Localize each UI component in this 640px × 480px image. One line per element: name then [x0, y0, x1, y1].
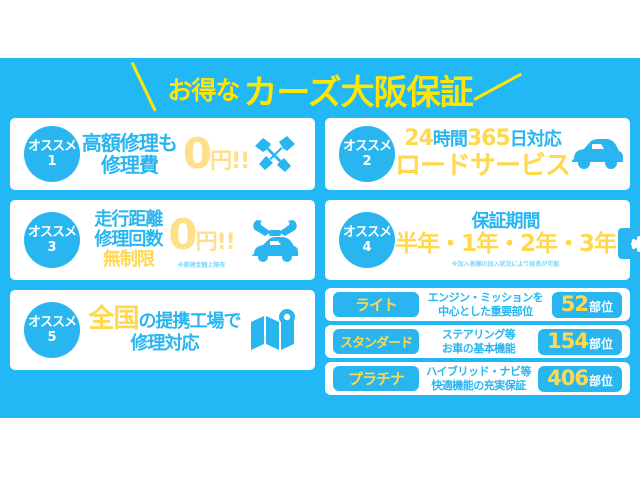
card-3-line-3: 無制限 — [103, 250, 154, 270]
plan-desc-line-2: お車の基本機能 — [419, 342, 538, 356]
promo-banner: ＼ お得な カーズ大阪保証 ／ オススメ 1 高額修理も 修理費 0 円!! — [0, 0, 640, 480]
badge-number: 2 — [362, 155, 371, 168]
banner-header: ＼ お得な カーズ大阪保証 ／ — [0, 62, 640, 116]
card-1-amount: 0 — [183, 130, 210, 177]
card-4-periods: 半年・1年・2年・3年 — [395, 232, 616, 258]
card-3-line-1: 走行距離 — [94, 210, 162, 230]
feature-card-3: オススメ 3 走行距離 修理回数 無制限 0 円!! ※修理金額上限有 — [10, 200, 315, 280]
plan-desc-line-1: エンジン・ミッションを — [419, 291, 552, 305]
plan-desc-line-1: ステアリング等 — [419, 328, 538, 342]
badge-label: オススメ — [343, 226, 391, 239]
car-icon — [570, 137, 624, 171]
plan-description-standard: ステアリング等 お車の基本機能 — [419, 328, 538, 356]
badge-number: 5 — [47, 331, 56, 344]
card-5-line-1: の提携工場で — [139, 312, 241, 332]
card-2-hours-number: 24 — [404, 127, 433, 152]
plan-name-label: プラチナ — [348, 368, 404, 389]
recommend-badge-4: オススメ 4 — [339, 212, 395, 268]
plan-row-standard[interactable]: スタンダード ステアリング等 お車の基本機能 154 部位 — [325, 325, 630, 358]
slash-right-decoration: ／ — [471, 63, 522, 115]
plan-count-unit: 部位 — [589, 298, 613, 315]
plan-count-pill-platinum: 406 部位 — [538, 366, 622, 392]
card-1-line-1: 高額修理も — [82, 132, 177, 154]
badge-number: 1 — [47, 155, 56, 168]
plan-count-value: 154 — [547, 329, 588, 353]
card-2-service-label: ロードサービス — [395, 152, 570, 181]
card-4-title: 保証期間 — [472, 212, 540, 232]
card-3-note: ※修理金額上限有 — [178, 260, 226, 269]
toolbox-icon — [616, 219, 640, 261]
slash-left-decoration: ＼ — [118, 63, 169, 115]
plan-description-light: エンジン・ミッションを 中心とした重要部位 — [419, 291, 552, 319]
badge-label: オススメ — [28, 226, 76, 239]
card-1-line-2: 修理費 — [101, 154, 158, 176]
feature-card-1: オススメ 1 高額修理も 修理費 0 円!! — [10, 118, 315, 190]
header-text-small: お得な — [167, 71, 239, 107]
plan-desc-line-2: 中心とした重要部位 — [419, 305, 552, 319]
plan-row-platinum[interactable]: プラチナ ハイブリッド・ナビ等 快適機能の充実保証 406 部位 — [325, 362, 630, 395]
feature-card-5: オススメ 5 全国 の提携工場で 修理対応 — [10, 290, 315, 370]
plan-description-platinum: ハイブリッド・ナビ等 快適機能の充実保証 — [419, 365, 538, 393]
card-4-note: ※加入者様の加入状況により延長が可能 — [452, 259, 560, 268]
card-5-line-2: 修理対応 — [131, 334, 199, 354]
card-5-nationwide: 全国 — [88, 305, 138, 334]
plan-count-unit: 部位 — [589, 335, 613, 352]
feature-card-2: オススメ 2 24 時間 365 日対応 ロードサービス — [325, 118, 630, 190]
map-pin-icon — [249, 308, 299, 352]
card-2-days-unit: 日対応 — [510, 130, 561, 150]
wrench-car-icon — [249, 216, 299, 264]
plan-count-pill-standard: 154 部位 — [538, 329, 622, 355]
card-1-amount-unit: 円!! — [210, 150, 249, 175]
plan-desc-line-1: ハイブリッド・ナビ等 — [419, 365, 538, 379]
badge-label: オススメ — [28, 140, 76, 153]
plan-name-pill-light: ライト — [333, 292, 419, 317]
plan-desc-line-2: 快適機能の充実保証 — [419, 379, 538, 393]
badge-number: 4 — [362, 241, 371, 254]
plan-name-pill-platinum: プラチナ — [333, 366, 419, 391]
card-3-amount-unit: 円!! — [196, 231, 235, 256]
feature-card-4: オススメ 4 保証期間 半年・1年・2年・3年 ※加入者様の加入状況により延長が… — [325, 200, 630, 280]
plan-row-light[interactable]: ライト エンジン・ミッションを 中心とした重要部位 52 部位 — [325, 288, 630, 321]
plan-count-value: 52 — [561, 292, 588, 316]
recommend-badge-5: オススメ 5 — [24, 302, 80, 358]
plan-name-label: ライト — [355, 294, 397, 315]
plan-count-pill-light: 52 部位 — [552, 292, 622, 318]
badge-number: 3 — [47, 241, 56, 254]
hammer-chisel-icon — [251, 132, 299, 176]
badge-label: オススメ — [343, 140, 391, 153]
plan-count-unit: 部位 — [589, 372, 613, 389]
card-2-days-number: 365 — [467, 127, 510, 152]
plan-name-pill-standard: スタンダード — [333, 329, 419, 354]
recommend-badge-2: オススメ 2 — [339, 126, 395, 182]
plan-name-label: スタンダード — [340, 332, 412, 351]
recommend-badge-1: オススメ 1 — [24, 126, 80, 182]
recommend-badge-3: オススメ 3 — [24, 212, 80, 268]
card-3-amount: 0 — [168, 211, 195, 258]
badge-label: オススメ — [28, 316, 76, 329]
plan-count-value: 406 — [547, 366, 588, 390]
header-text-big: カーズ大阪保証 — [243, 65, 472, 114]
card-3-line-2: 修理回数 — [94, 230, 162, 250]
card-2-hours-unit: 時間 — [433, 130, 467, 150]
